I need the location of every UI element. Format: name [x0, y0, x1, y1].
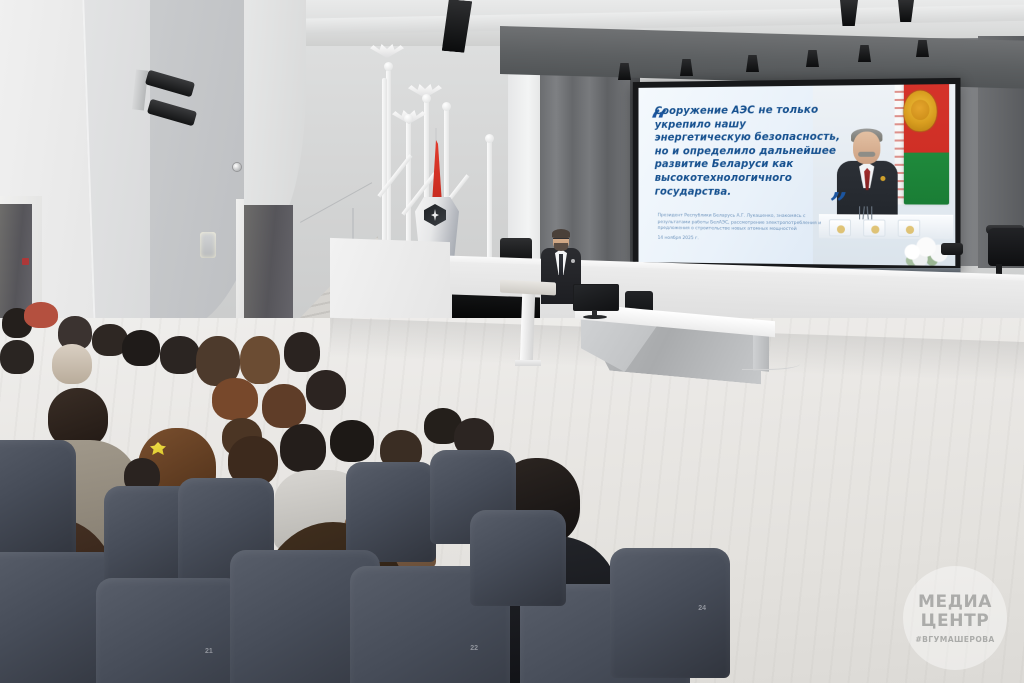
audience-head [240, 336, 280, 384]
belarus-flag-icon [904, 84, 949, 205]
audience-head [284, 332, 320, 372]
audience-head [24, 302, 58, 328]
sculpture-bud-icon [404, 114, 413, 123]
audience-head [212, 378, 258, 420]
led-screen[interactable]: “ Сооружение АЭС не только укрепило нашу… [633, 78, 961, 272]
sculpture-stalk [382, 78, 387, 266]
auditorium-seat[interactable] [346, 462, 436, 562]
nameplate [863, 219, 885, 236]
seat-number: 21 [205, 648, 213, 655]
belarus-coat-of-arms-icon [904, 90, 937, 131]
audience-head [52, 344, 92, 384]
glasses-icon [553, 238, 569, 242]
seat-number: 22 [470, 645, 478, 652]
audience-head [48, 388, 108, 448]
slide-caption-text: Президент Республики Беларусь А.Г. Лукаш… [658, 213, 822, 232]
presentation-slide: “ Сооружение АЭС не только укрепило нашу… [639, 84, 956, 266]
wall-sconce-light [200, 232, 216, 258]
audience-head [160, 336, 200, 374]
audience-head [0, 340, 34, 374]
audience-head [280, 424, 326, 472]
slide-caption-date: 14 ноября 2025 г. [658, 236, 834, 244]
audience-head [306, 370, 346, 410]
presenter-beard [554, 243, 568, 251]
auditorium-scene: “ Сооружение АЭС не только укрепило нашу… [0, 0, 1024, 683]
president-head [853, 131, 880, 163]
piano-bench [941, 243, 963, 255]
sculpture-bud-icon [422, 94, 431, 103]
presenter-hair [552, 229, 570, 238]
audience-head [330, 420, 374, 462]
sculpture-bud-icon [442, 102, 451, 111]
auditorium-seat[interactable]: 24 [610, 548, 730, 678]
sculpture-stalk [487, 140, 492, 266]
presenter-tie [559, 254, 563, 276]
watermark-line-2: ЦЕНТР [921, 612, 990, 631]
exit-sign-icon [22, 258, 29, 265]
seat-number: 24 [698, 605, 706, 612]
watermark-line-1: МЕДИА [918, 593, 992, 612]
audience-head [262, 384, 306, 428]
presenter-badge-icon [571, 259, 575, 263]
security-camera-icon [233, 163, 241, 171]
auditorium-seat[interactable] [470, 510, 566, 606]
slide-quote-text: Сооружение АЭС не только укрепило нашу э… [655, 103, 847, 199]
grand-piano [988, 228, 1024, 266]
president-moustache [858, 152, 875, 157]
audience-head [122, 330, 160, 366]
pen-holder-icon [857, 206, 873, 219]
slide-caption: Президент Республики Беларусь А.Г. Лукаш… [658, 213, 834, 243]
audience-area: 21 22 23 24 [0, 300, 760, 683]
lapel-badge-icon [880, 176, 885, 181]
auditorium-seat[interactable] [0, 440, 76, 560]
auditorium-seat[interactable]: 21 [96, 578, 242, 683]
sculpture-bud-icon [485, 134, 494, 143]
media-center-watermark: МЕДИА ЦЕНТР #ВГУМАШЕРОВА [903, 566, 1007, 670]
watermark-hashtag: #ВГУМАШЕРОВА [915, 635, 994, 644]
sculpture-bud-icon [384, 62, 393, 71]
